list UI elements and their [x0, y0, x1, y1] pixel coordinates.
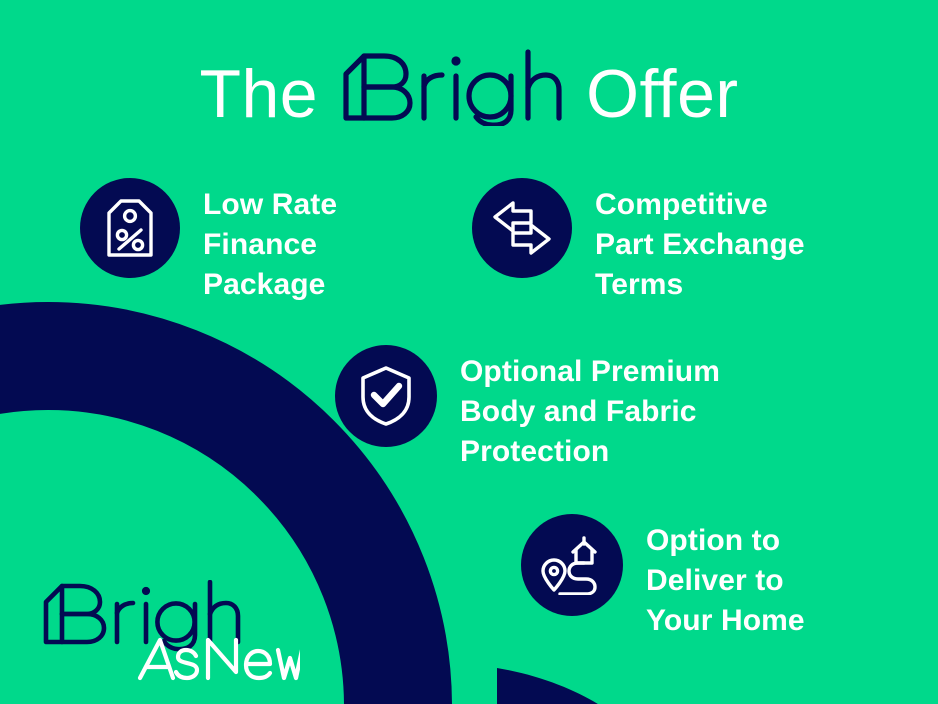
- navy-corner-wedge: [497, 668, 610, 704]
- feature-part-exchange: Competitive Part Exchange Terms: [472, 178, 805, 305]
- offer-poster: The: [0, 0, 938, 704]
- feature-label: Option to Deliver to Your Home: [646, 514, 805, 641]
- feature-label: Competitive Part Exchange Terms: [595, 178, 805, 305]
- feature-body-fabric-protection: Optional Premium Body and Fabric Protect…: [335, 345, 720, 472]
- page-title: The: [0, 46, 938, 141]
- feature-home-delivery: Option to Deliver to Your Home: [521, 514, 805, 641]
- shield-check-icon: [335, 345, 437, 447]
- feature-low-rate-finance: Low Rate Finance Package: [80, 178, 337, 305]
- title-prefix: The: [199, 54, 318, 134]
- exchange-arrows-icon: [472, 178, 572, 278]
- feature-label: Low Rate Finance Package: [203, 178, 337, 305]
- logo-asnew-wordmark: [140, 640, 300, 678]
- title-suffix: Offer: [586, 54, 738, 134]
- bright-as-new-logo: [40, 580, 300, 684]
- bright-wordmark-icon: [338, 48, 566, 143]
- delivery-route-home-icon: [521, 514, 623, 616]
- feature-label: Optional Premium Body and Fabric Protect…: [460, 345, 720, 472]
- price-tag-percent-icon: [80, 178, 180, 278]
